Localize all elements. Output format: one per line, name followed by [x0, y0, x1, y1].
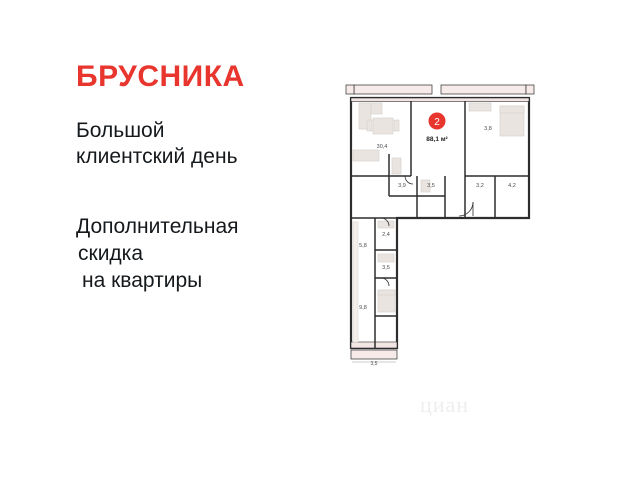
cian-watermark: циан — [420, 392, 469, 418]
promo-block: БРУСНИКА Большой клиентский день Дополни… — [76, 62, 326, 294]
promo-subtext: Дополнительная скидка на квартиры — [76, 213, 326, 295]
room-area-bathroom-left: 3,9 — [398, 183, 406, 189]
room-area-bedroom-right: 3,8 — [484, 126, 492, 132]
total-area-label: 88,1 м² — [426, 136, 448, 143]
promo-subtext-line2: скидка — [76, 240, 326, 267]
dimension-top: 8,1 — [437, 84, 444, 86]
promo-headline: Большой клиентский день — [76, 118, 326, 171]
room-area-closet-right-a: 3,2 — [476, 183, 484, 189]
balcony-top — [346, 85, 534, 94]
brand-logo: БРУСНИКА — [76, 62, 326, 92]
room-area-living-kitchen: 30,4 — [377, 144, 388, 150]
balcony-bottom — [351, 350, 397, 359]
room-area-hall: 2,4 — [382, 232, 390, 238]
rooms-badge: 2 — [429, 113, 446, 130]
room-area-corridor-mid: 3,5 — [427, 183, 435, 189]
room-area-wc: 3,5 — [382, 265, 390, 271]
room-area-storage: 5,8 — [359, 243, 367, 249]
screenshot-root: БРУСНИКА Большой клиентский день Дополни… — [0, 0, 640, 480]
room-area-room-right-b: 4,2 — [508, 183, 516, 189]
promo-headline-line2: клиентский день — [76, 144, 326, 170]
promo-subtext-line1: Дополнительная — [76, 213, 326, 240]
room-area-bedroom-lower: 9,8 — [359, 305, 367, 311]
promo-subtext-line3: на квартиры — [76, 267, 326, 294]
floor-plan: 2 88,1 м² 30,4 3,8 3,9 3,5 3,2 4,2 2,4 5… — [345, 84, 535, 366]
promo-headline-line1: Большой — [76, 118, 326, 144]
rooms-badge-label: 2 — [434, 117, 440, 128]
